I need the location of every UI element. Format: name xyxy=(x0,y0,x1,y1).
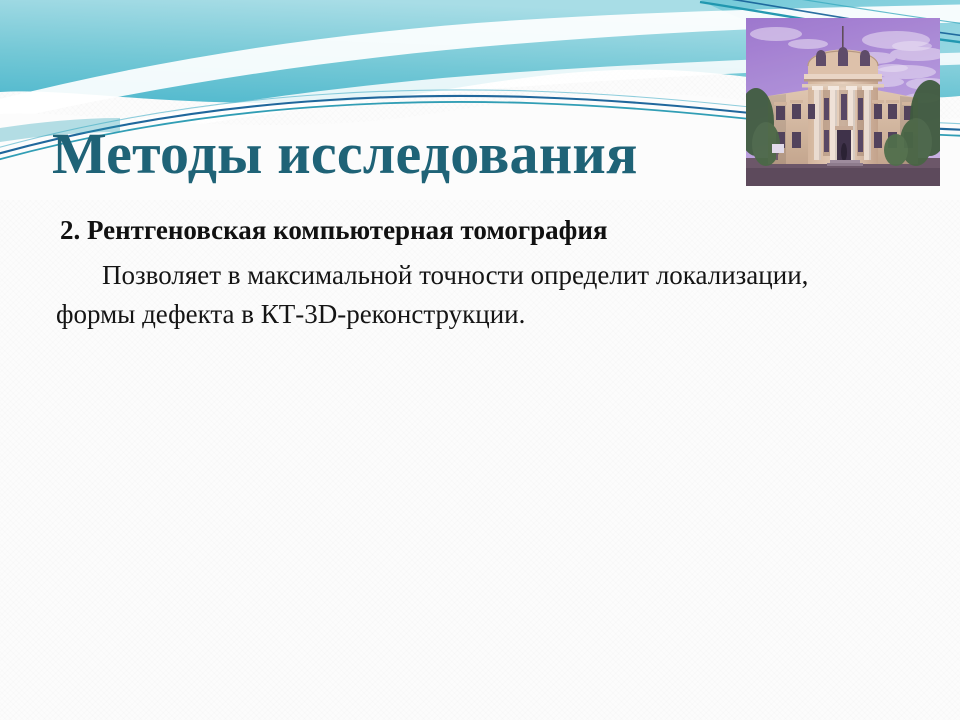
slide-body: 2. Рентгеновская компьютерная томография… xyxy=(56,212,856,334)
slide-title: Методы исследования xyxy=(52,122,638,186)
slide-paragraph: Позволяет в максимальной точности опреде… xyxy=(56,256,846,334)
building-photo xyxy=(746,18,940,186)
building-photo-illustration xyxy=(746,18,940,186)
presentation-slide: Методы исследования 2. Рентгеновская ком… xyxy=(0,0,960,720)
slide-subheading: 2. Рентгеновская компьютерная томография xyxy=(60,212,856,248)
